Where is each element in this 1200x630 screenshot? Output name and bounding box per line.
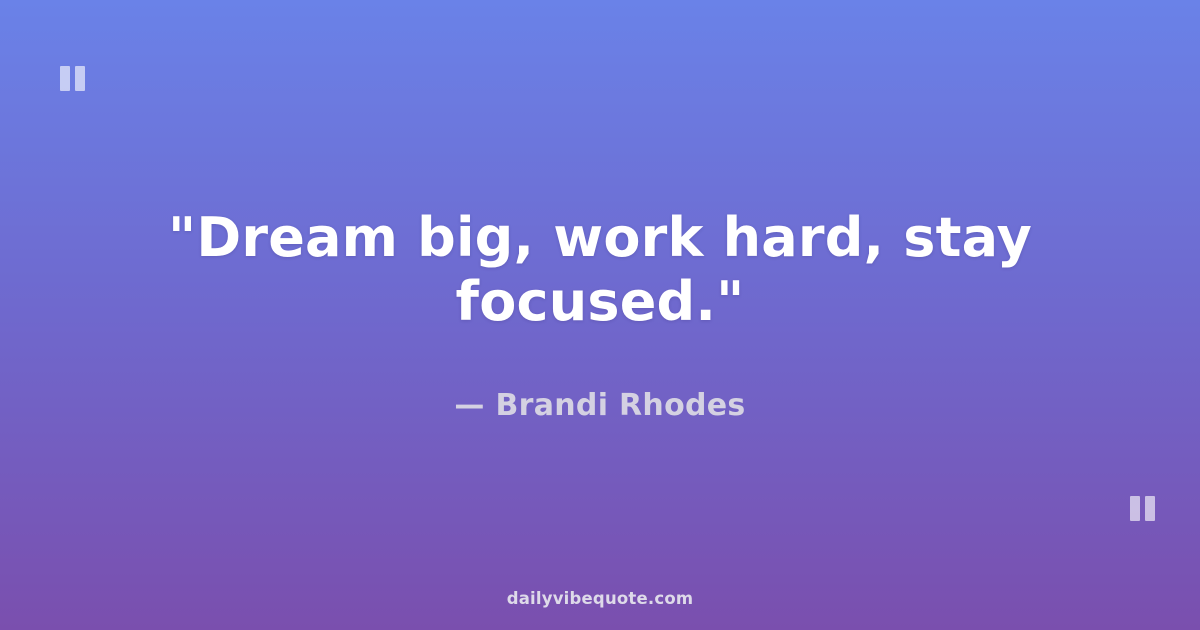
quote-author: — Brandi Rhodes — [70, 388, 1130, 424]
quote-card: "Dream big, work hard, stay focused." — … — [0, 0, 1200, 630]
footer-site-url: dailyvibequote.com — [507, 589, 694, 608]
quote-bar-right — [1145, 496, 1155, 521]
quote-content: "Dream big, work hard, stay focused." — … — [0, 0, 1200, 630]
footer: dailyvibequote.com — [0, 589, 1200, 608]
quote-text: "Dream big, work hard, stay focused." — [70, 206, 1130, 333]
quotation-mark-icon-bottom-right — [1130, 496, 1155, 521]
quote-bar-left — [1130, 496, 1140, 521]
